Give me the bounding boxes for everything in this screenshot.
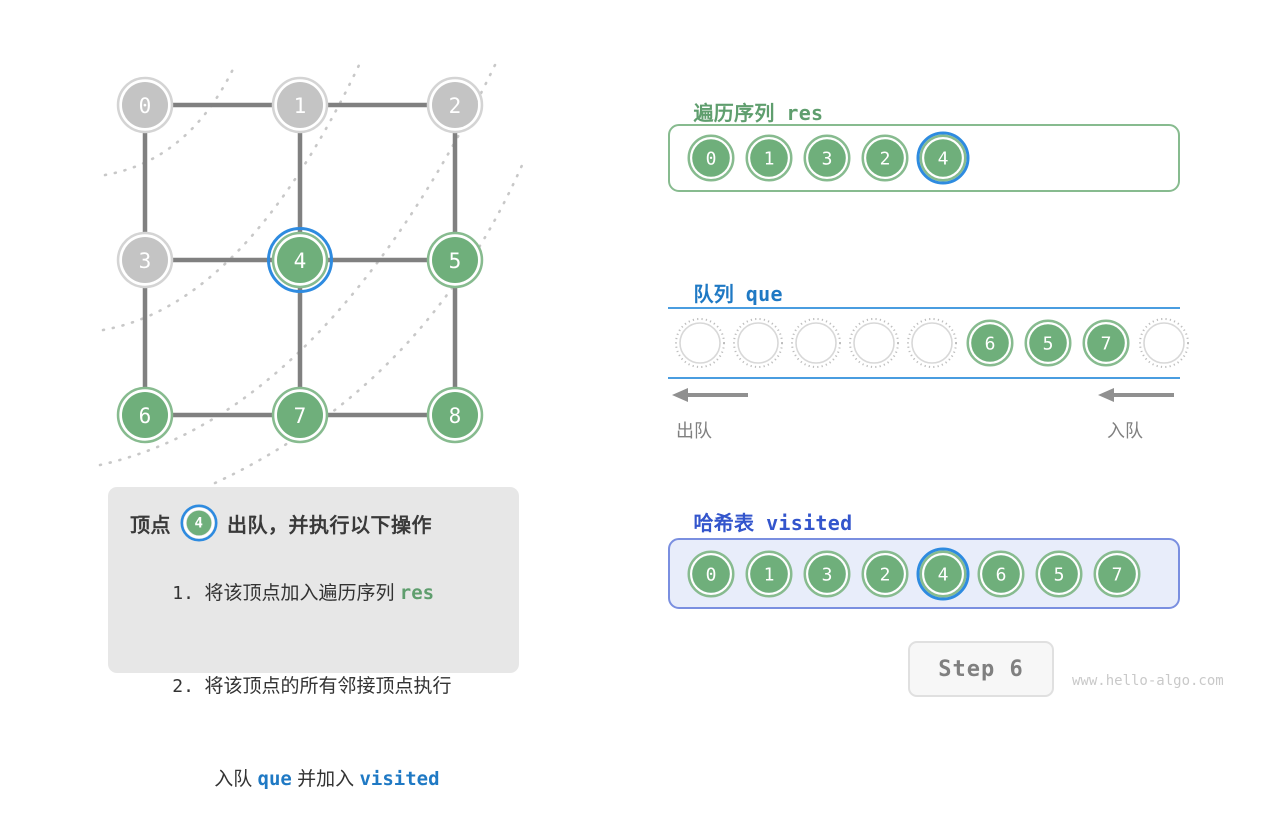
cell-label: 0 — [706, 564, 717, 585]
node-label: 3 — [139, 249, 152, 273]
empty-slot-dotted-ring — [908, 319, 956, 367]
node-label: 8 — [449, 404, 462, 428]
empty-slot — [672, 315, 728, 371]
cell-label: 4 — [938, 149, 949, 170]
empty-slot-inner-ring — [796, 323, 836, 363]
node-label: 5 — [449, 249, 462, 273]
value-cell: 2 — [857, 130, 913, 186]
value-cell: 0 — [683, 546, 739, 602]
empty-slot-inner-ring — [738, 323, 778, 363]
cell-label: 2 — [880, 149, 891, 170]
graph-node-7[interactable]: 7 — [274, 389, 327, 442]
caption-step-1: 1. 将该顶点加入遍历序列 res — [130, 547, 519, 640]
value-cell: 0 — [683, 130, 739, 186]
graph-canvas: 012345678 — [95, 55, 525, 485]
value-cell: 6 — [973, 546, 1029, 602]
node-label: 1 — [294, 94, 307, 118]
caption-step-2-code-que: que — [258, 768, 292, 790]
caption-step-2: 2. 将该顶点的所有邻接顶点执行 — [130, 640, 519, 733]
value-cell: 1 — [741, 546, 797, 602]
right-panel: 遍历序列 res 01324 队列 que 657 出队 入队 哈希表 visi… — [620, 0, 1280, 720]
caption-step-2-code-visited: visited — [359, 768, 439, 790]
caption-box: 顶点 4 出队，并执行以下操作 1. 将该顶点加入遍历序列 res 2. 将该顶… — [108, 487, 519, 673]
graph-panel: 012345678 顶点 4 出队，并执行以下操作 1. 将该顶点加入遍历序列 … — [0, 0, 620, 720]
value-cell: 1 — [741, 130, 797, 186]
value-cell: 6 — [962, 315, 1018, 371]
cell-label: 1 — [764, 564, 775, 585]
value-cell: 4 — [915, 130, 971, 186]
value-cell: 2 — [857, 546, 913, 602]
value-cell: 4 — [915, 546, 971, 602]
graph-node-5[interactable]: 5 — [429, 234, 482, 287]
empty-slot-dotted-ring — [676, 319, 724, 367]
cell-label: 5 — [1054, 564, 1065, 585]
node-label: 0 — [139, 94, 152, 118]
caption-step-2-line2-before: 入队 — [214, 769, 252, 790]
enqueue-arrow-icon — [1098, 386, 1176, 409]
graph-nodes: 012345678 — [119, 79, 482, 442]
caption-step-1-code: res — [400, 582, 434, 604]
queue-title-code: que — [746, 282, 783, 306]
caption-step-2-line2: 入队 que 并加入 visited — [130, 733, 519, 826]
caption-title-prefix: 顶点 — [130, 509, 171, 538]
caption-step-1-text: 将该顶点加入遍历序列 — [204, 583, 394, 604]
cell-label: 2 — [880, 564, 891, 585]
caption-title: 顶点 4 出队，并执行以下操作 — [108, 503, 519, 543]
caption-step-list: 1. 将该顶点加入遍历序列 res 2. 将该顶点的所有邻接顶点执行 入队 qu… — [108, 543, 519, 826]
res-title-code: res — [786, 101, 823, 125]
queue-cell-row: 657 — [672, 309, 1194, 377]
dequeue-arrow-icon — [672, 386, 750, 409]
res-cell-row: 01324 — [683, 126, 973, 190]
queue-title-cn: 队列 — [693, 284, 734, 306]
empty-slot-inner-ring — [912, 323, 952, 363]
empty-slot — [846, 315, 902, 371]
graph-node-3[interactable]: 3 — [119, 234, 172, 287]
caption-step-2-text: 将该顶点的所有邻接顶点执行 — [204, 676, 451, 697]
empty-slot-dotted-ring — [1140, 319, 1188, 367]
caption-title-suffix: 出队，并执行以下操作 — [227, 509, 432, 538]
caption-vertex-chip: 4 — [180, 504, 218, 542]
graph-node-8[interactable]: 8 — [429, 389, 482, 442]
cell-label: 0 — [706, 149, 717, 170]
node-label: 2 — [449, 94, 462, 118]
wavefront-curve-4 — [215, 163, 523, 483]
graph-node-0[interactable]: 0 — [119, 79, 172, 132]
empty-slot — [788, 315, 844, 371]
node-label: 4 — [294, 249, 307, 273]
value-cell: 5 — [1031, 546, 1087, 602]
cell-label: 4 — [938, 564, 949, 585]
graph-node-1[interactable]: 1 — [274, 79, 327, 132]
cell-label: 6 — [996, 564, 1007, 585]
caption-step-2-line2-middle: 并加入 — [297, 769, 354, 790]
visited-cell-row: 01324657 — [683, 540, 1147, 607]
empty-slot-dotted-ring — [734, 319, 782, 367]
cell-label: 3 — [822, 564, 833, 585]
node-label: 7 — [294, 404, 307, 428]
caption-step-1-index: 1. — [172, 583, 194, 604]
empty-slot-dotted-ring — [792, 319, 840, 367]
value-cell: 7 — [1089, 546, 1145, 602]
graph-node-2[interactable]: 2 — [429, 79, 482, 132]
value-cell: 5 — [1020, 315, 1076, 371]
graph-node-6[interactable]: 6 — [119, 389, 172, 442]
empty-slot — [904, 315, 960, 371]
step-badge: Step 6 — [908, 641, 1054, 697]
graph-node-4[interactable]: 4 — [269, 229, 332, 292]
cell-label: 6 — [985, 334, 996, 355]
empty-slot-inner-ring — [854, 323, 894, 363]
caption-chip-label: 4 — [195, 516, 204, 532]
res-container: 01324 — [668, 124, 1180, 192]
enqueue-label: 入队 — [1107, 417, 1143, 443]
empty-slot-inner-ring — [1144, 323, 1184, 363]
empty-slot — [730, 315, 786, 371]
empty-slot — [1136, 315, 1192, 371]
cell-label: 3 — [822, 149, 833, 170]
res-title-cn: 遍历序列 — [693, 103, 774, 125]
cell-label: 5 — [1043, 334, 1054, 355]
empty-slot-dotted-ring — [850, 319, 898, 367]
cell-label: 7 — [1112, 564, 1123, 585]
value-cell: 3 — [799, 130, 855, 186]
queue-rail-bottom — [668, 377, 1180, 379]
caption-step-2-index: 2. — [172, 676, 194, 697]
value-cell: 7 — [1078, 315, 1134, 371]
visited-title-code: visited — [766, 511, 852, 535]
dequeue-label: 出队 — [676, 417, 712, 443]
cell-label: 7 — [1101, 334, 1112, 355]
empty-slot-inner-ring — [680, 323, 720, 363]
value-cell: 3 — [799, 546, 855, 602]
watermark: www.hello-algo.com — [1072, 673, 1224, 689]
cell-label: 1 — [764, 149, 775, 170]
visited-title-cn: 哈希表 — [693, 513, 754, 535]
visited-container: 01324657 — [668, 538, 1180, 609]
node-label: 6 — [139, 404, 152, 428]
